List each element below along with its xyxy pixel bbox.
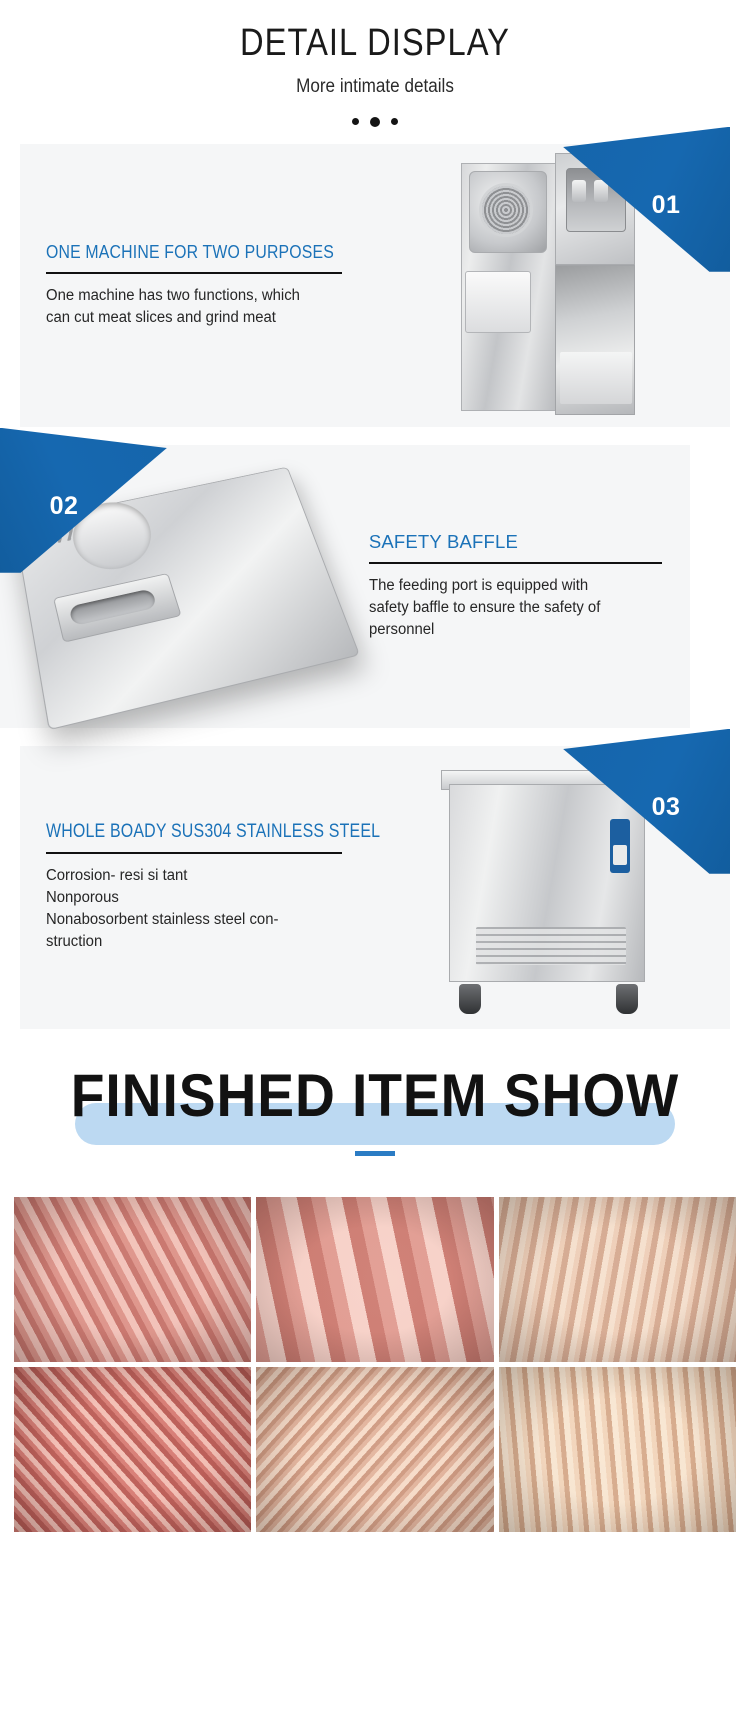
gallery-item[interactable]	[499, 1197, 736, 1362]
feature-text-02: SAFETY BAFFLE The feeding port is equipp…	[359, 445, 690, 728]
feature-title: WHOLE BOADY SUS304 STAINLESS STEEL	[46, 821, 295, 843]
gallery-item[interactable]	[256, 1197, 493, 1362]
three-dots-icon	[0, 117, 750, 127]
gallery-item[interactable]	[14, 1367, 251, 1532]
feature-text-03: WHOLE BOADY SUS304 STAINLESS STEEL Corro…	[20, 746, 368, 1029]
badge-number: 03	[652, 793, 681, 822]
feature-body-line: One machine has two functions, which	[46, 285, 330, 307]
feature-title: ONE MACHINE FOR TWO PURPOSES	[46, 242, 306, 263]
badge-number: 02	[50, 492, 79, 521]
page-title: DETAIL DISPLAY	[53, 22, 698, 66]
feature-body-line: The feeding port is equipped with	[369, 575, 650, 597]
feature-body: Corrosion- resi si tant Nonporous Nonabo…	[46, 865, 330, 953]
feature-badge-03: 03	[558, 729, 730, 874]
feature-text-01: ONE MACHINE FOR TWO PURPOSES One machine…	[20, 144, 368, 427]
title-underline	[369, 562, 662, 564]
gallery-item[interactable]	[256, 1367, 493, 1532]
feature-body-line: Corrosion- resi si tant	[46, 865, 330, 887]
gallery-grid	[0, 1197, 750, 1532]
feature-title: SAFETY BAFFLE	[369, 531, 662, 553]
feature-badge-02: 02	[0, 428, 172, 573]
title-underline	[46, 272, 342, 274]
feature-card-02: SAFETY BAFFLE The feeding port is equipp…	[0, 445, 690, 728]
section-title: FINISHED ITEM SHOW	[30, 1061, 720, 1130]
page-header: DETAIL DISPLAY More intimate details	[0, 0, 750, 127]
badge-number: 01	[652, 191, 681, 220]
title-tick-marker	[355, 1151, 395, 1156]
feature-body-line: personnel	[369, 619, 650, 641]
feature-body-line: can cut meat slices and grind meat	[46, 307, 330, 329]
title-underline	[46, 852, 342, 854]
feature-body-line: struction	[46, 931, 330, 953]
feature-body: The feeding port is equipped with safety…	[369, 575, 650, 641]
feature-body-line: safety baffle to ensure the safety of	[369, 597, 650, 619]
feature-card-03: WHOLE BOADY SUS304 STAINLESS STEEL Corro…	[20, 746, 730, 1029]
feature-body-line: Nonabosorbent stainless steel con-	[46, 909, 330, 931]
feature-body: One machine has two functions, which can…	[46, 285, 330, 329]
gallery-item[interactable]	[14, 1197, 251, 1362]
feature-card-01: ONE MACHINE FOR TWO PURPOSES One machine…	[20, 144, 730, 427]
feature-cards: ONE MACHINE FOR TWO PURPOSES One machine…	[0, 144, 750, 1029]
feature-badge-01: 01	[558, 127, 730, 272]
page-subtitle: More intimate details	[38, 76, 713, 98]
finished-item-show-section: FINISHED ITEM SHOW	[0, 1047, 750, 1197]
gallery-item[interactable]	[499, 1367, 736, 1532]
feature-body-line: Nonporous	[46, 887, 330, 909]
